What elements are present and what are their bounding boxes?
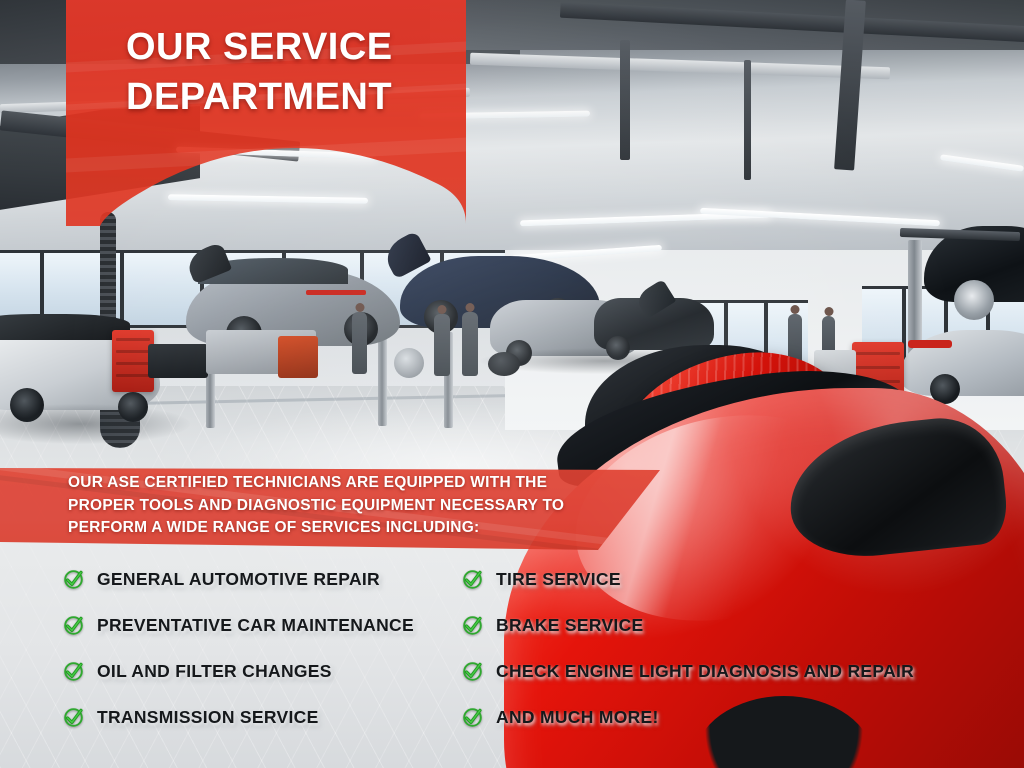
green-check-icon <box>63 615 84 636</box>
green-check-icon <box>462 615 483 636</box>
page-title: OUR SERVICE DEPARTMENT <box>126 22 456 122</box>
service-label: AND MUCH MORE! <box>496 707 659 728</box>
subhead-line3: PERFORM A WIDE RANGE OF SERVICES INCLUDI… <box>68 517 628 540</box>
page-title-line1: OUR SERVICE <box>126 26 393 68</box>
service-label: PREVENTATIVE CAR MAINTENANCE <box>97 615 414 636</box>
services-list: GENERAL AUTOMOTIVE REPAIR PREVENTATIVE C… <box>0 556 1024 746</box>
list-item: GENERAL AUTOMOTIVE REPAIR <box>63 556 463 602</box>
list-item: TRANSMISSION SERVICE <box>63 694 463 740</box>
subhead-line1: OUR ASE CERTIFIED TECHNICIANS ARE EQUIPP… <box>68 472 628 495</box>
page-title-line2: DEPARTMENT <box>126 72 456 122</box>
list-item: BRAKE SERVICE <box>462 602 1022 648</box>
green-check-icon <box>63 569 84 590</box>
green-check-icon <box>462 569 483 590</box>
green-check-icon <box>63 661 84 682</box>
green-check-icon <box>462 661 483 682</box>
list-item: OIL AND FILTER CHANGES <box>63 648 463 694</box>
service-label: BRAKE SERVICE <box>496 615 644 636</box>
list-item: PREVENTATIVE CAR MAINTENANCE <box>63 602 463 648</box>
list-item: CHECK ENGINE LIGHT DIAGNOSIS AND REPAIR <box>462 648 1022 694</box>
service-department-poster: E8 20 UAJ OUR SERVICE DEPARTMENT OUR ASE… <box>0 0 1024 768</box>
services-column-right: TIRE SERVICE BRAKE SERVICE <box>462 556 1022 740</box>
service-label: OIL AND FILTER CHANGES <box>97 661 332 682</box>
service-label: TIRE SERVICE <box>496 569 621 590</box>
subhead-text: OUR ASE CERTIFIED TECHNICIANS ARE EQUIPP… <box>68 472 628 540</box>
service-label: GENERAL AUTOMOTIVE REPAIR <box>97 569 380 590</box>
subhead-line2: PROPER TOOLS AND DIAGNOSTIC EQUIPMENT NE… <box>68 495 628 518</box>
list-item: TIRE SERVICE <box>462 556 1022 602</box>
green-check-icon <box>63 707 84 728</box>
services-column-left: GENERAL AUTOMOTIVE REPAIR PREVENTATIVE C… <box>63 556 463 740</box>
list-item: AND MUCH MORE! <box>462 694 1022 740</box>
green-check-icon <box>462 707 483 728</box>
service-label: CHECK ENGINE LIGHT DIAGNOSIS AND REPAIR <box>496 661 914 682</box>
service-label: TRANSMISSION SERVICE <box>97 707 319 728</box>
